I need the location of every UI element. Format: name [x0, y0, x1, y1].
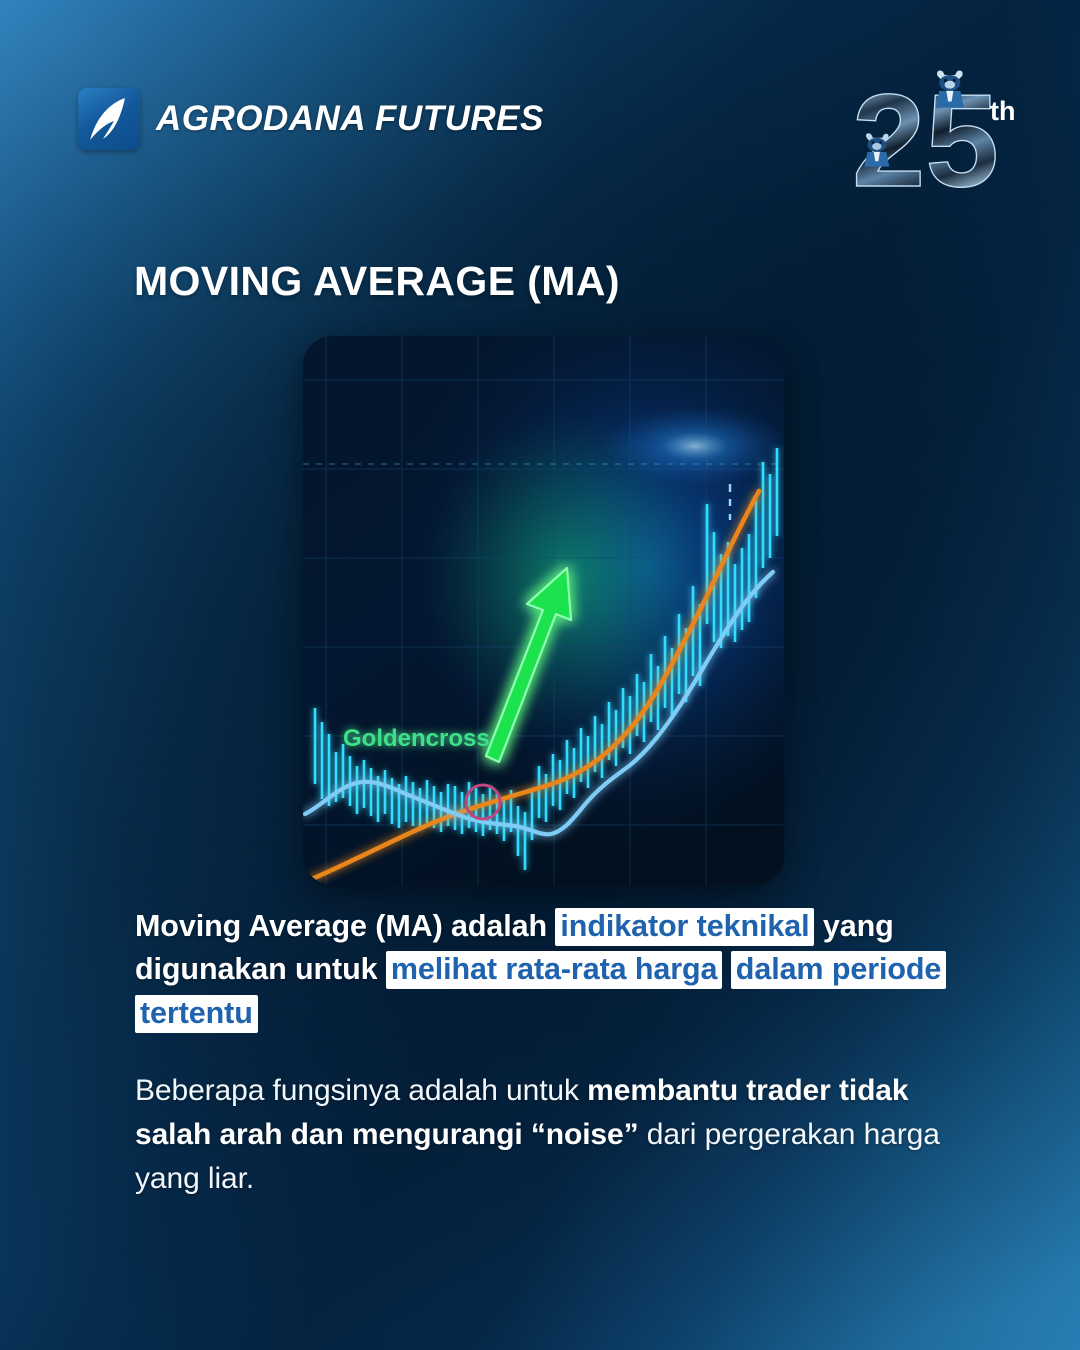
- arrow-swoosh-icon: [78, 88, 140, 150]
- p2-seg-0: Beberapa fungsinya adalah untuk: [135, 1074, 587, 1107]
- chart-illustration: Goldencross: [303, 336, 784, 885]
- paragraph-definition: Moving Average (MA) adalah indikator tek…: [135, 905, 955, 1035]
- svg-text:25: 25: [852, 67, 999, 208]
- header: AGRODANA FUTURES: [0, 0, 1080, 230]
- svg-text:th: th: [990, 96, 1015, 126]
- p1-seg-0: Moving Average (MA) adalah: [135, 909, 555, 943]
- paragraph-functions: Beberapa fungsinya adalah untuk membantu…: [135, 1069, 955, 1201]
- goldencross-label: Goldencross: [343, 725, 490, 752]
- page-title: MOVING AVERAGE (MA): [134, 258, 620, 305]
- anniversary-badge: 25 25 th: [838, 58, 1028, 208]
- brand-lockup: AGRODANA FUTURES: [78, 88, 544, 150]
- body-copy: Moving Average (MA) adalah indikator tek…: [135, 905, 955, 1201]
- p1-seg-1: indikator teknikal: [555, 908, 814, 946]
- p1-seg-4: [722, 952, 730, 986]
- brand-name: AGRODANA FUTURES: [156, 99, 544, 139]
- p1-seg-3: melihat rata-rata harga: [386, 951, 723, 989]
